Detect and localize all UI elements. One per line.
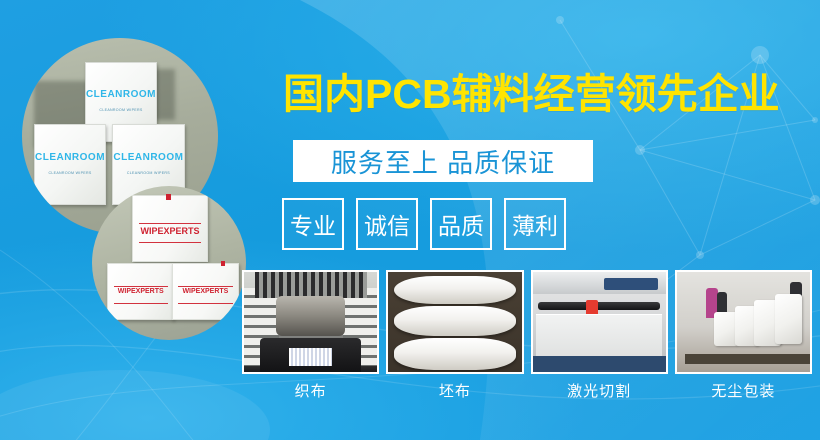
- wipexperts-package-top: WIPEXPERTS: [132, 195, 208, 262]
- cleanroom-package-sublabel-3: CLEANROOM WIPERS: [113, 171, 184, 175]
- process-caption-laser-cutting: 激光切割: [531, 380, 668, 404]
- process-photo-cleanroom-packing[interactable]: [675, 270, 812, 374]
- process-photo-weaving[interactable]: [242, 270, 379, 374]
- cleanroom-package-sublabel-2: CLEANROOM WIPERS: [35, 171, 106, 175]
- banner-title: 国内PCB辅料经营领先企业: [283, 74, 780, 115]
- wipexperts-package-left: WIPEXPERTS: [107, 263, 174, 320]
- cleanroom-package-label-2: CLEANROOM: [35, 152, 106, 163]
- wipexperts-package-label-3: WIPEXPERTS: [173, 288, 238, 295]
- process-caption-list: 织布 坯布 激光切割 无尘包装: [242, 380, 812, 404]
- wipexperts-package-label: WIPEXPERTS: [133, 226, 207, 236]
- banner-subtitle: 服务至上 品质保证: [331, 143, 555, 180]
- wipexperts-package-label-2: WIPEXPERTS: [108, 288, 173, 295]
- process-photo-greige-fabric[interactable]: [386, 270, 523, 374]
- feature-tag-integrity[interactable]: 诚信: [356, 198, 418, 250]
- feature-tag-quality[interactable]: 品质: [430, 198, 492, 250]
- process-caption-greige-fabric: 坯布: [386, 380, 523, 404]
- feature-tag-list: 专业 诚信 品质 薄利: [282, 198, 566, 250]
- feature-tag-low-margin[interactable]: 薄利: [504, 198, 566, 250]
- process-photo-laser-cutting[interactable]: [531, 270, 668, 374]
- cleanroom-package-label-3: CLEANROOM: [113, 152, 184, 163]
- process-caption-cleanroom-packing: 无尘包装: [675, 380, 812, 404]
- feature-tag-professional[interactable]: 专业: [282, 198, 344, 250]
- promotional-banner: CLEANROOM CLEANROOM WIPERS CLEANROOM CLE…: [0, 0, 820, 440]
- banner-subtitle-bar: 服务至上 品质保证: [293, 140, 593, 182]
- process-caption-weaving: 织布: [242, 380, 379, 404]
- process-photo-strip: [242, 270, 812, 374]
- cleanroom-package-label: CLEANROOM: [86, 89, 157, 100]
- cleanroom-package-sublabel: CLEANROOM WIPERS: [86, 108, 157, 112]
- wipexperts-package-right: WIPEXPERTS: [172, 263, 239, 320]
- product-photo-wipexperts: WIPEXPERTS WIPEXPERTS WIPEXPERTS: [92, 186, 246, 340]
